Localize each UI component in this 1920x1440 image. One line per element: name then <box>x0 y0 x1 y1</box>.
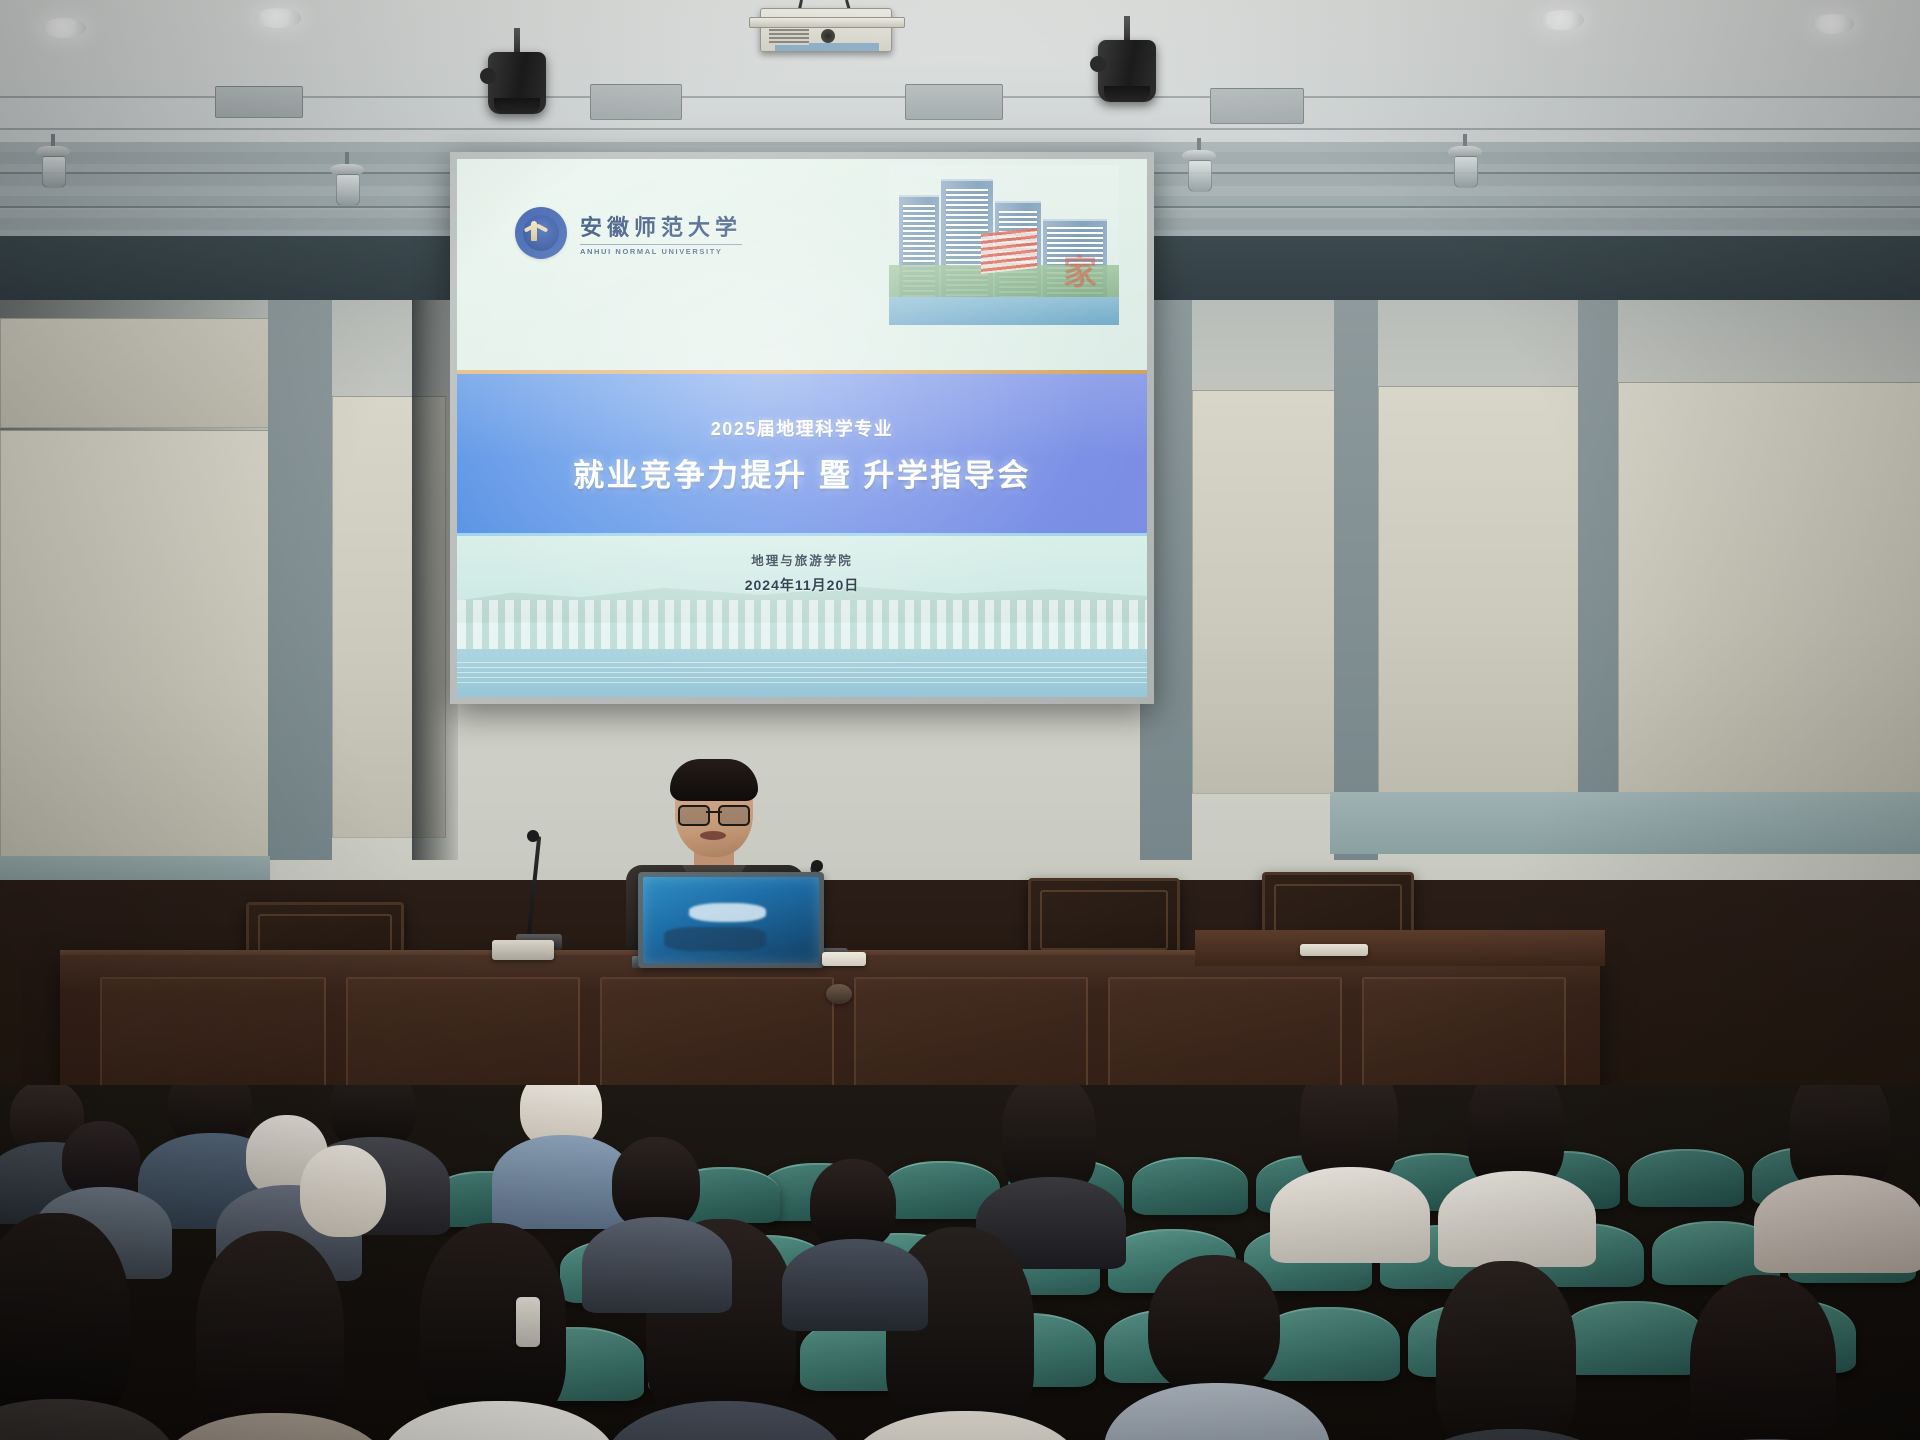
wall-divider <box>1334 300 1378 860</box>
wall-panel <box>0 430 270 862</box>
slide-header: 家 安徽师范大学 ANHUI NORMAL UNIVERSITY <box>457 159 1147 374</box>
podium-step <box>1195 930 1605 966</box>
campus-building-image: 家 <box>889 165 1119 325</box>
water-bottle <box>516 1297 540 1347</box>
desk-nameplate <box>492 940 554 960</box>
slide-title-band: 2025届地理科学专业 就业竞争力提升 暨 升学指导会 <box>457 374 1147 535</box>
pendant-lamp-left <box>36 134 70 190</box>
university-name-cn: 安徽师范大学 <box>580 210 742 242</box>
wall-panel <box>1618 382 1920 794</box>
recessed-light <box>255 8 301 28</box>
eyeglasses-icon <box>678 805 750 822</box>
wall-panel <box>1378 386 1580 796</box>
desk-paper <box>1300 944 1368 956</box>
ceiling-vent <box>1210 88 1304 124</box>
stage-spotlight-left <box>488 28 546 118</box>
pendant-lamp-left-2 <box>330 152 364 208</box>
university-emblem-icon <box>515 207 567 259</box>
recessed-light <box>1540 10 1584 30</box>
audience-area <box>0 1085 1920 1440</box>
university-name-en: ANHUI NORMAL UNIVERSITY <box>580 244 742 256</box>
laptop-screen <box>638 872 824 968</box>
desk-cup <box>826 984 852 1004</box>
wall-panel <box>1192 390 1336 794</box>
slide-subtitle: 2025届地理科学专业 <box>711 415 894 441</box>
desk-paper <box>822 952 866 966</box>
presenter-laptop <box>638 872 814 968</box>
ceiling-vent <box>590 84 682 120</box>
slide-department: 地理与旅游学院 <box>745 550 860 569</box>
projection-screen: 家 安徽师范大学 ANHUI NORMAL UNIVERSITY <box>450 152 1154 704</box>
recessed-light <box>1812 14 1854 34</box>
lecture-hall-photo: 家 安徽师范大学 ANHUI NORMAL UNIVERSITY <box>0 0 1920 1440</box>
university-logo: 安徽师范大学 ANHUI NORMAL UNIVERSITY <box>515 207 742 259</box>
presentation-slide: 家 安徽师范大学 ANHUI NORMAL UNIVERSITY <box>457 159 1147 697</box>
slide-date: 2024年11月20日 <box>745 575 860 595</box>
ceiling-vent <box>905 84 1003 120</box>
wall-panel <box>0 318 270 428</box>
wall-baseboard <box>1330 792 1920 854</box>
recessed-light <box>42 18 86 38</box>
pendant-lamp-right-2 <box>1448 134 1482 190</box>
wall-divider <box>268 300 332 860</box>
wall-divider <box>1578 300 1618 840</box>
pendant-lamp-right <box>1182 138 1216 194</box>
stage-spotlight-right <box>1098 16 1156 106</box>
ceiling-projector <box>760 8 892 52</box>
slide-title: 就业竞争力提升 暨 升学指导会 <box>573 450 1031 495</box>
ceiling-vent <box>215 86 303 118</box>
slide-footer: 地理与旅游学院 2024年11月20日 <box>457 536 1147 697</box>
